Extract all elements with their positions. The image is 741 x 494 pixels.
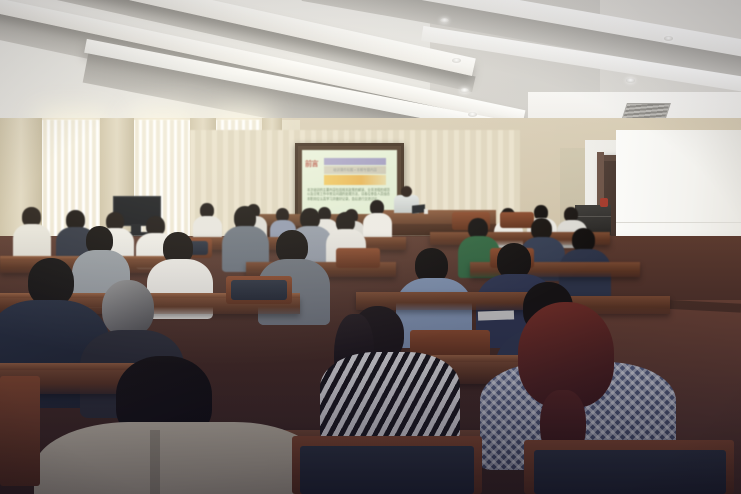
column-seam [616,222,741,223]
image-caption: Conference room training session [8,487,23,488]
chair [500,212,534,228]
downlight-icon [460,88,469,93]
shelf-object [600,198,608,207]
jacket-seam [150,430,160,494]
conference-room-photo: 前言 培训课件标题 • 本期专题内容 本次培训的主要内容包括相关政策的解读、业务… [0,0,741,494]
slide-header-band [324,158,386,165]
khaki-jacket [34,422,320,494]
downlight-icon [468,112,477,117]
slide-accent-band [324,175,386,185]
chair-back [231,280,287,300]
chair-back [534,450,726,494]
downlight-icon [626,78,635,83]
presenter-cup [424,209,428,214]
zebra-top [320,352,460,440]
slide-banner-text: 培训课件标题 • 本期专题内容 [324,166,386,174]
chair [0,376,40,486]
paper-document [478,310,514,320]
downlight-icon [452,58,461,63]
downlight-icon [440,18,449,23]
downlight-icon [664,36,673,41]
chair-back [300,446,474,494]
slide-heading: 前言 [305,159,318,169]
presenter-head [401,186,412,197]
chair [336,248,380,268]
shelf-divider [575,216,611,217]
